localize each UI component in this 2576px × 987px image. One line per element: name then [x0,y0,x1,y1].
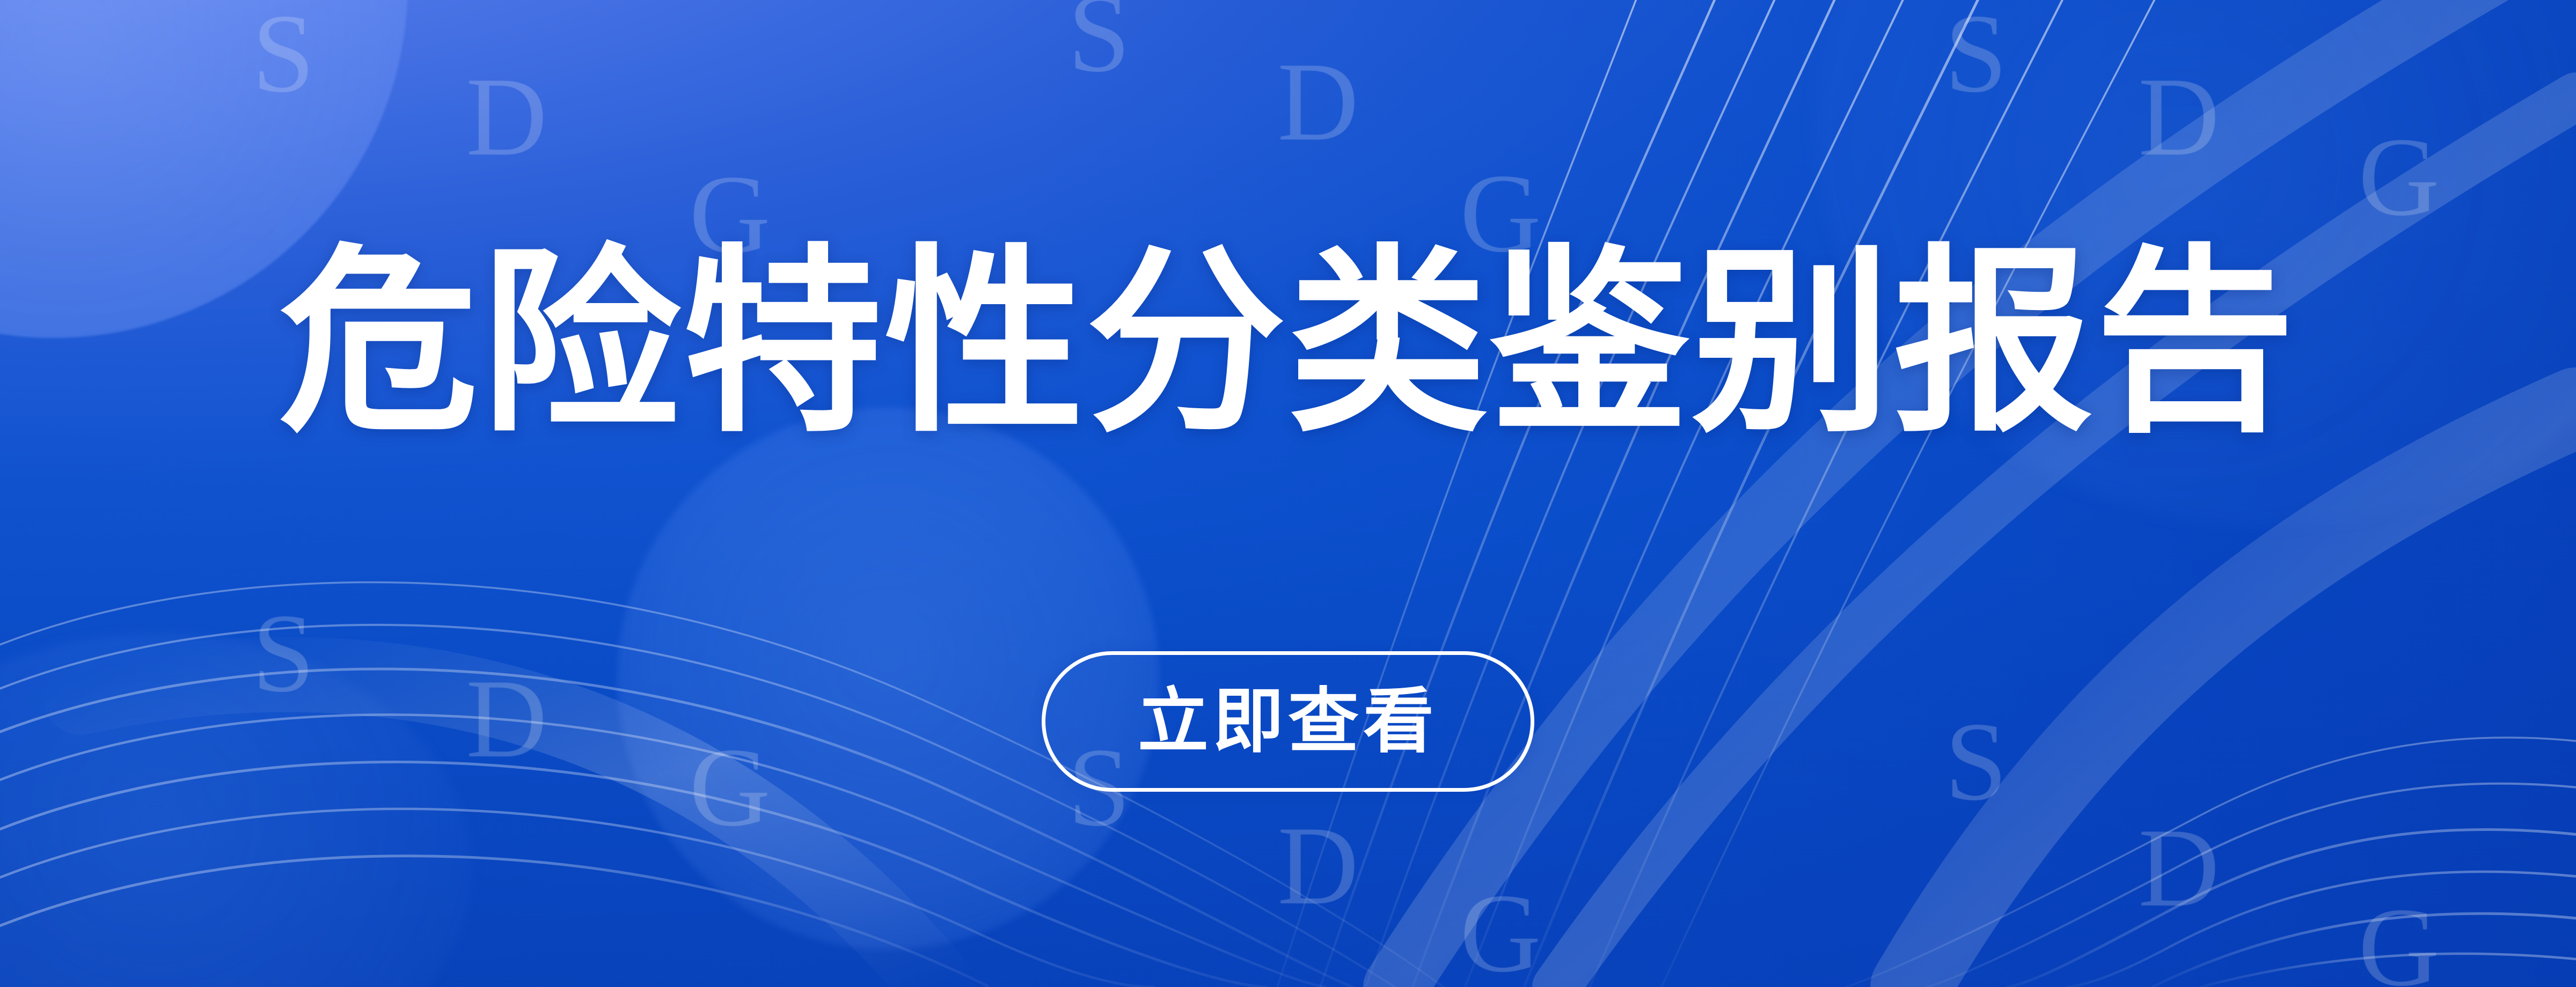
promo-banner: SDGSDGSDGSDGSDGSDG 危险特性分类鉴别报告 立即查看 [0,0,2576,987]
view-now-button[interactable]: 立即查看 [1042,651,1534,792]
page-title: 危险特性分类鉴别报告 [279,237,2297,448]
banner-content: 危险特性分类鉴别报告 立即查看 [0,0,2576,987]
